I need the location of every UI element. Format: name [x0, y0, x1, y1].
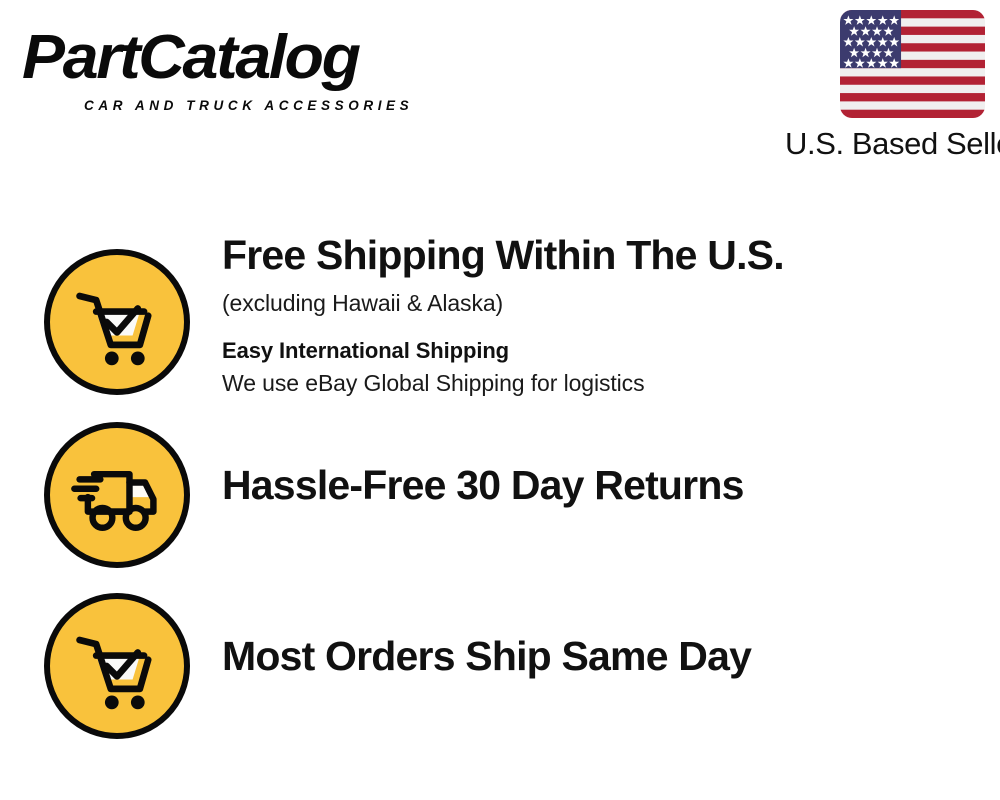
feature-text-free-shipping: Free Shipping Within The U.S. (excluding…	[222, 230, 980, 399]
feature-row-free-shipping: Free Shipping Within The U.S. (excluding…	[0, 228, 1000, 404]
us-based-seller-label: U.S. Based Seller	[785, 124, 985, 164]
shopping-cart-check-icon	[44, 593, 190, 739]
delivery-truck-icon	[44, 422, 190, 568]
brand-logo[interactable]: PartCatalog CAR AND TRUCK ACCESSORIES	[22, 22, 492, 114]
us-based-seller-badge: U.S. Based Seller	[785, 10, 985, 164]
feature-subline: (excluding Hawaii & Alaska)	[222, 286, 980, 320]
feature-row-same-day-ship: Most Orders Ship Same Day	[0, 593, 1000, 739]
us-flag-icon	[840, 10, 985, 118]
feature-row-returns: Hassle-Free 30 Day Returns	[0, 422, 1000, 568]
shopping-cart-check-icon	[44, 249, 190, 395]
feature-text-returns: Hassle-Free 30 Day Returns	[222, 460, 980, 510]
feature-headline: Most Orders Ship Same Day	[222, 631, 980, 681]
feature-text-same-day-ship: Most Orders Ship Same Day	[222, 631, 980, 681]
shipping-info-banner: PartCatalog CAR AND TRUCK ACCESSORIES	[0, 0, 1000, 800]
feature-secondary-text: We use eBay Global Shipping for logistic…	[222, 367, 980, 399]
feature-headline: Free Shipping Within The U.S.	[222, 230, 980, 280]
feature-secondary-heading: Easy International Shipping	[222, 336, 980, 366]
brand-wordmark: PartCatalog	[22, 22, 359, 94]
brand-tagline: CAR AND TRUCK ACCESSORIES	[84, 98, 413, 113]
feature-headline: Hassle-Free 30 Day Returns	[222, 460, 980, 510]
